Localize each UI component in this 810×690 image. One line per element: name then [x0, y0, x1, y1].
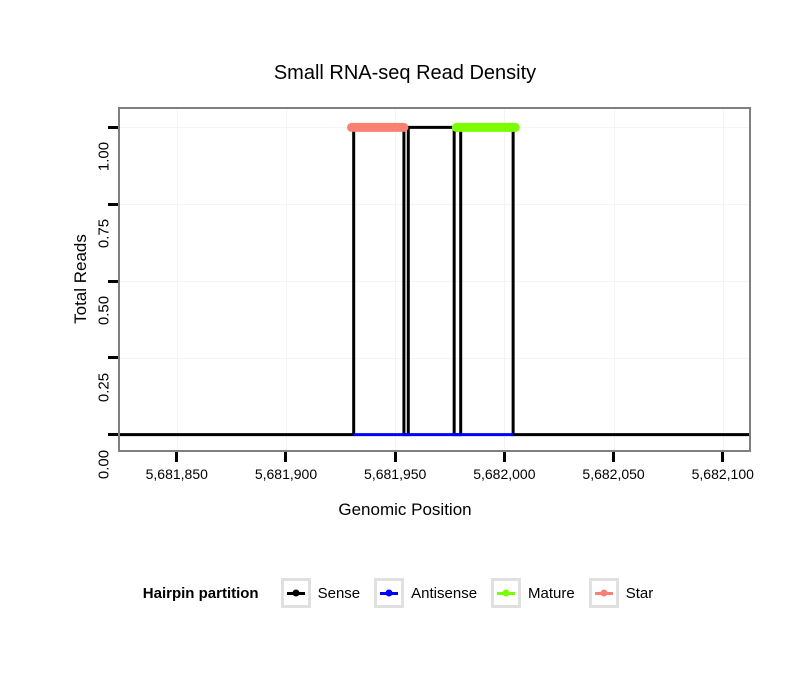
plot-panel: [118, 107, 751, 452]
x-tick-mark: [394, 452, 397, 462]
x-tick-mark: [284, 452, 287, 462]
plot-area: [120, 109, 749, 450]
legend: Hairpin partition SenseAntisenseMatureSt…: [0, 578, 810, 608]
y-tick-label: 0.50: [96, 281, 113, 341]
series-layer: [120, 109, 749, 450]
legend-key-dot: [503, 590, 510, 597]
y-tick-label: 0.00: [96, 434, 113, 494]
legend-label: Star: [626, 585, 654, 602]
legend-key-dot: [292, 590, 299, 597]
chart-root: Small RNA-seq Read Density Total Reads 0…: [0, 0, 810, 690]
chart-title: Small RNA-seq Read Density: [0, 62, 810, 85]
x-tick-label: 5,681,950: [335, 466, 455, 482]
y-tick-label: 1.00: [96, 127, 113, 187]
legend-label: Mature: [528, 585, 575, 602]
x-tick-label: 5,682,100: [663, 466, 783, 482]
legend-key-mature: [491, 578, 521, 608]
x-tick-label: 5,682,050: [554, 466, 674, 482]
legend-item-sense[interactable]: Sense: [281, 578, 361, 608]
x-tick-mark: [612, 452, 615, 462]
legend-item-antisense[interactable]: Antisense: [374, 578, 477, 608]
legend-key-antisense: [374, 578, 404, 608]
series-sense: [120, 127, 749, 434]
legend-key-dot: [386, 590, 393, 597]
legend-key-line: [287, 592, 305, 595]
legend-label: Antisense: [411, 585, 477, 602]
legend-key-line: [380, 592, 398, 595]
legend-key-line: [497, 592, 515, 595]
y-tick-label: 0.25: [96, 357, 113, 417]
x-tick-mark: [503, 452, 506, 462]
legend-label: Sense: [318, 585, 361, 602]
y-tick-label: 0.75: [96, 204, 113, 264]
x-axis-title: Genomic Position: [0, 500, 810, 520]
legend-item-star[interactable]: Star: [589, 578, 654, 608]
x-tick-label: 5,682,000: [444, 466, 564, 482]
legend-key-star: [589, 578, 619, 608]
x-tick-mark: [721, 452, 724, 462]
x-tick-label: 5,681,850: [117, 466, 237, 482]
legend-key-dot: [600, 590, 607, 597]
legend-item-mature[interactable]: Mature: [491, 578, 575, 608]
x-tick-mark: [175, 452, 178, 462]
legend-items: SenseAntisenseMatureStar: [281, 578, 668, 608]
y-axis-title: Total Reads: [71, 199, 91, 359]
x-tick-label: 5,681,900: [226, 466, 346, 482]
legend-title: Hairpin partition: [143, 585, 259, 602]
legend-key-line: [595, 592, 613, 595]
legend-key-sense: [281, 578, 311, 608]
